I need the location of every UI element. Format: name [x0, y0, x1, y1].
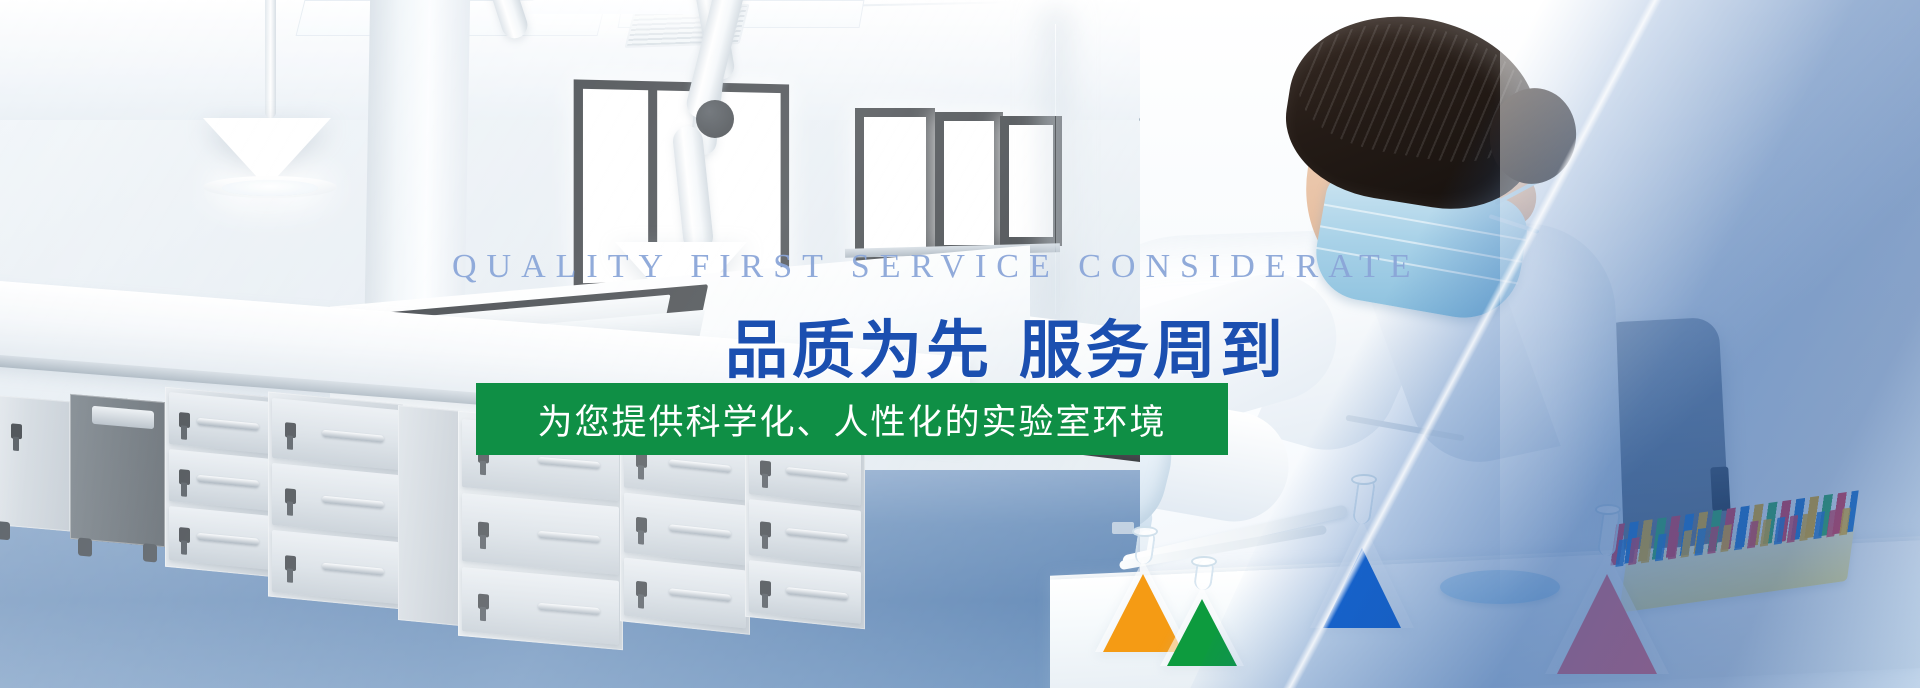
- drawer-handle: [786, 587, 848, 601]
- drawer-handle: [538, 531, 600, 543]
- lab-window: [855, 108, 935, 266]
- cabinet-lock-icon: [636, 517, 647, 533]
- lab-window: [935, 112, 1003, 254]
- wall-corner-shadow: [1055, 24, 1056, 314]
- hero-banner: QUALITY FIRST SERVICE CONSIDERATE 品质为先 服…: [0, 0, 1920, 688]
- drawer-handle: [786, 528, 848, 542]
- drawer-handle: [669, 524, 731, 538]
- cabinet-lock-icon: [11, 423, 22, 439]
- lamp-stem: [265, 0, 276, 118]
- lab-window: [1000, 116, 1062, 246]
- cabinet-lock-icon: [179, 412, 190, 428]
- cabinet-lock-icon: [285, 555, 296, 571]
- drawer-handle: [322, 430, 384, 443]
- drawer-handle: [786, 467, 848, 481]
- bench-label: [1112, 522, 1134, 534]
- cabinet-lock-icon: [478, 522, 489, 538]
- mobile-cabinet: [0, 395, 70, 532]
- drawer-handle: [322, 496, 384, 509]
- drawer-handle: [538, 603, 600, 615]
- drawer-handle: [197, 418, 259, 431]
- drawer-cabinet: [268, 392, 403, 610]
- cabinet-lock-icon: [478, 448, 489, 464]
- cabinet-lock-icon: [285, 422, 296, 438]
- arm-joint: [696, 100, 734, 138]
- ceiling-light: [527, 0, 722, 14]
- drawer-cabinet: [745, 432, 865, 630]
- drawer-handle: [322, 563, 384, 576]
- drawer-handle: [538, 457, 600, 469]
- drawer-handle: [669, 459, 731, 473]
- cabinet-lock-icon: [179, 527, 190, 543]
- cabinet-lock-icon: [760, 580, 771, 596]
- cabinet-lock-icon: [478, 594, 489, 610]
- cabinet-side-panel: [398, 405, 460, 626]
- petri-dish: [1440, 570, 1560, 604]
- drawer-cabinet: [458, 411, 623, 650]
- drawer-handle: [197, 475, 259, 488]
- drawer-handle: [669, 588, 731, 602]
- cabinet-lock-icon: [760, 460, 771, 476]
- cabinet-lock-icon: [636, 581, 647, 597]
- cabinet-lock-icon: [285, 488, 296, 504]
- cabinet-lock-icon: [636, 452, 647, 468]
- drawer-cabinet: [165, 387, 275, 578]
- drawer-handle: [197, 533, 259, 546]
- cabinet-lock-icon: [760, 521, 771, 537]
- mobile-cabinet-dark: [70, 394, 165, 547]
- cabinet-lock-icon: [179, 469, 190, 485]
- drawer-cabinet: [620, 421, 750, 635]
- lamp-bulb: [222, 180, 318, 196]
